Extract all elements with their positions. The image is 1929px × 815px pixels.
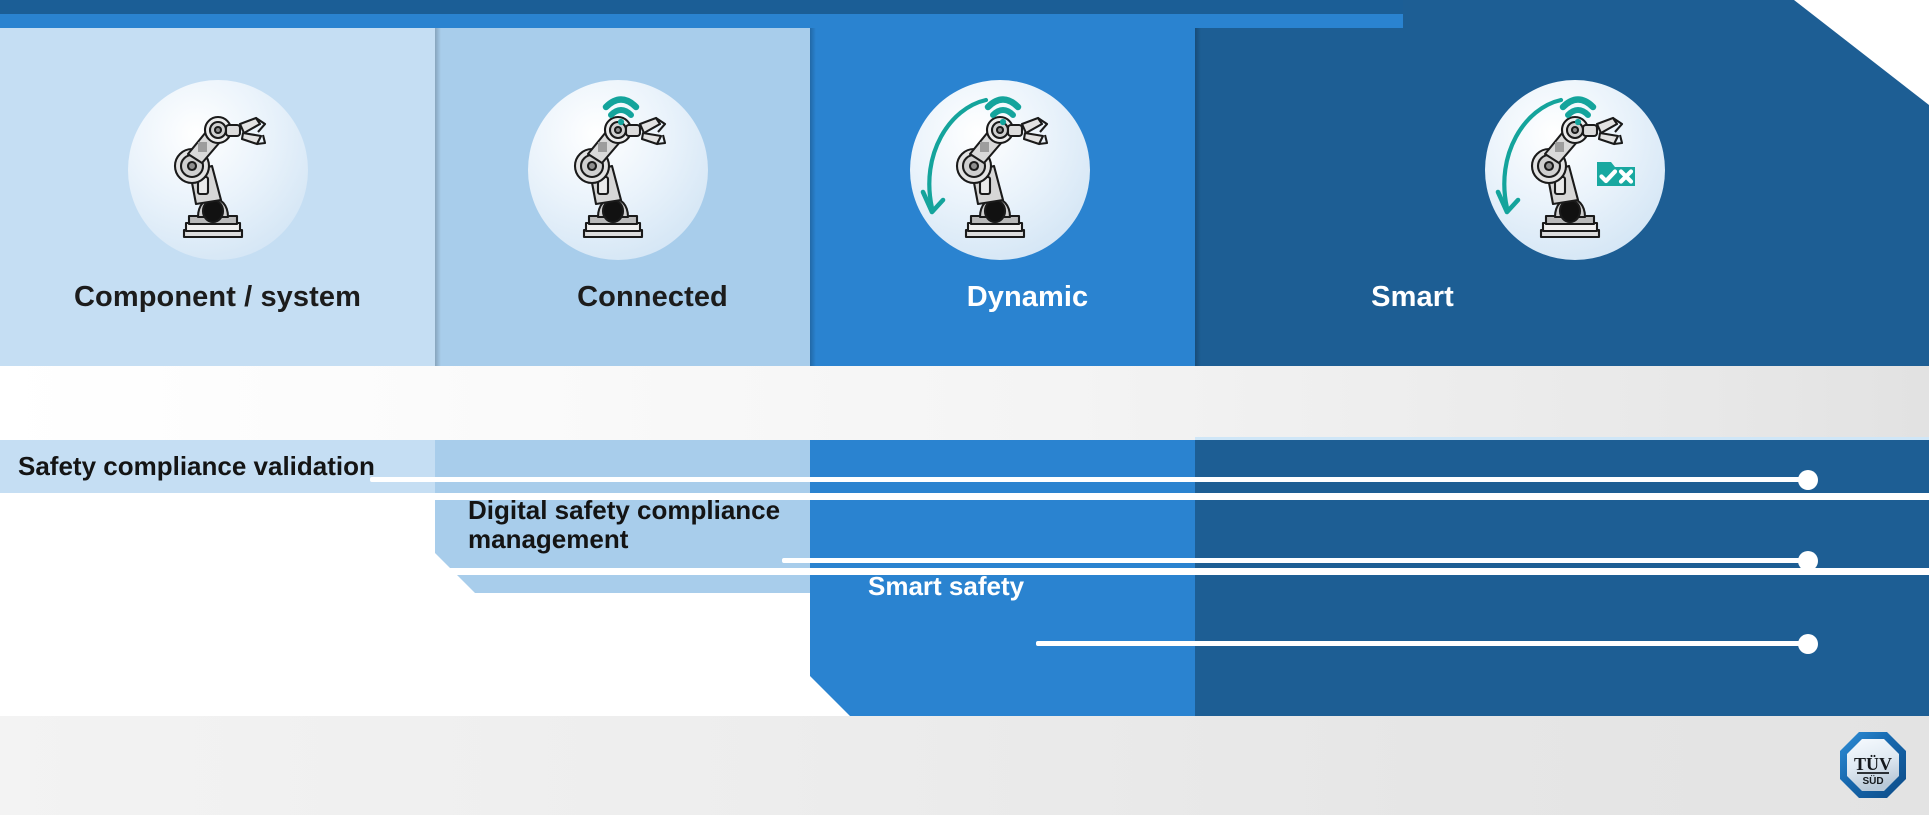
- panel-divider: [1195, 28, 1201, 366]
- mid-gap-spacer: [0, 366, 1929, 440]
- stage-icon-circle: [1485, 80, 1665, 260]
- stage-label: Connected: [435, 281, 870, 314]
- stage-label: Dynamic: [810, 281, 1245, 314]
- robot-arm-icon: [1485, 80, 1665, 260]
- tuv-sud-logo: TÜV SÜD: [1838, 730, 1908, 800]
- stage-icon-circle: [128, 80, 308, 260]
- diagram-canvas: Component / system: [0, 0, 1929, 815]
- tuv-logo-bottom-text: SÜD: [1862, 774, 1883, 787]
- robot-arm-icon: [528, 80, 708, 260]
- service-band-connector-endpoint: [1798, 551, 1818, 571]
- band-row-divider: [0, 568, 1929, 575]
- service-band-label-digital-safety-compliance-management: Digital safety compliance management: [468, 496, 780, 554]
- stage-label: Smart: [1195, 281, 1630, 314]
- panel-divider: [810, 28, 816, 366]
- band-row-divider: [0, 493, 1929, 500]
- band-top-highlight: [1195, 437, 1929, 440]
- tuv-logo-top-text: TÜV: [1854, 754, 1892, 774]
- footer-bar: [0, 716, 1929, 815]
- service-band-connector-line: [1036, 641, 1804, 646]
- robot-arm-icon: [910, 80, 1090, 260]
- service-band-connector-line: [370, 477, 1804, 482]
- service-band-label-safety-compliance-validation: Safety compliance validation: [18, 452, 375, 481]
- service-band-grid: Safety compliance validation Digital saf…: [0, 440, 1929, 716]
- panel-divider: [435, 28, 441, 366]
- stage-icon-circle: [528, 80, 708, 260]
- stage-label: Component / system: [0, 281, 435, 314]
- stage-panel-row: Component / system: [0, 28, 1929, 366]
- service-band-connector-line: [782, 558, 1804, 563]
- service-band-connector-endpoint: [1798, 634, 1818, 654]
- robot-arm-icon: [128, 80, 308, 260]
- service-band-label-smart-safety: Smart safety: [868, 572, 1024, 601]
- stage-panel-smart[interactable]: Smart: [1195, 28, 1929, 366]
- check-cross-badge-icon: [1597, 162, 1635, 186]
- stage-icon-circle: [910, 80, 1090, 260]
- service-band-connector-endpoint: [1798, 470, 1818, 490]
